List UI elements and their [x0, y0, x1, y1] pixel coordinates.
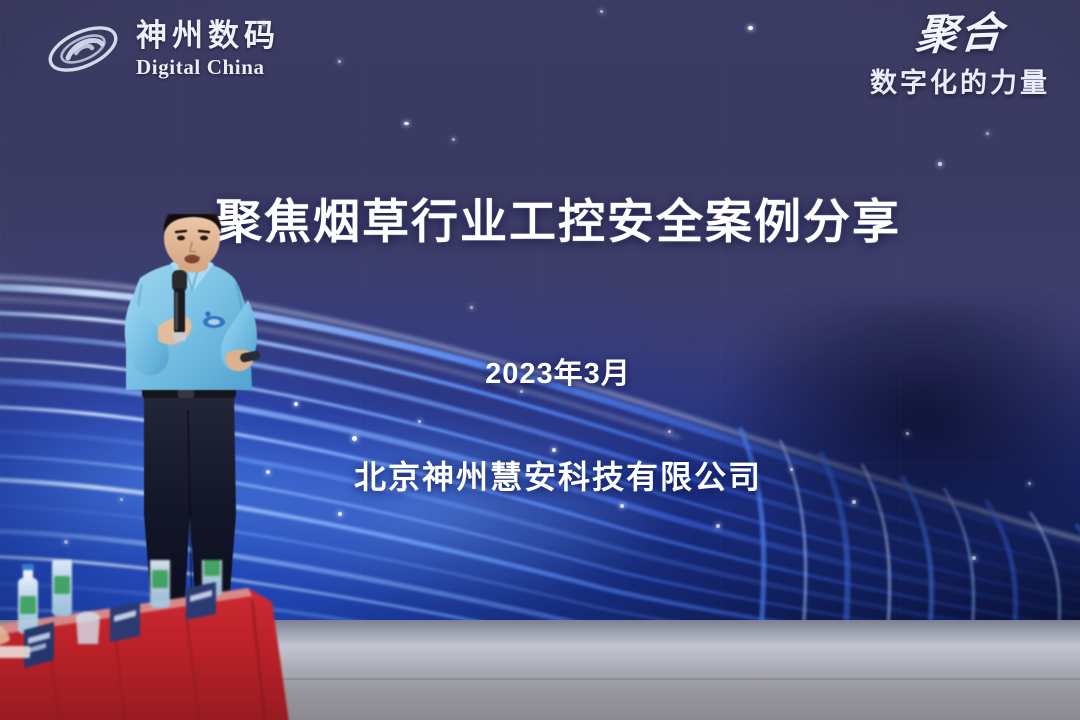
name-card	[186, 582, 216, 620]
spiral-swirl-icon	[44, 20, 122, 78]
brand-name-en: Digital China	[136, 57, 280, 78]
slogan-subtitle: 数字化的力量	[870, 61, 1050, 100]
panel-table	[0, 560, 290, 720]
water-bottle	[18, 564, 38, 634]
brand-name-cn: 神州数码	[136, 20, 280, 51]
water-bottle	[52, 560, 72, 616]
slogan-calligraphy: 聚合	[868, 13, 1052, 58]
brand-logo: 神州数码 Digital China	[44, 20, 280, 78]
name-card	[24, 622, 54, 668]
handheld-microphone	[172, 270, 187, 341]
water-bottle	[150, 560, 170, 608]
conference-photo: 神州数码 Digital China 聚合 数字化的力量 聚焦烟草行业工控安全案…	[0, 0, 1080, 720]
name-card	[110, 602, 140, 642]
event-slogan: 聚合 数字化的力量	[870, 16, 1050, 100]
